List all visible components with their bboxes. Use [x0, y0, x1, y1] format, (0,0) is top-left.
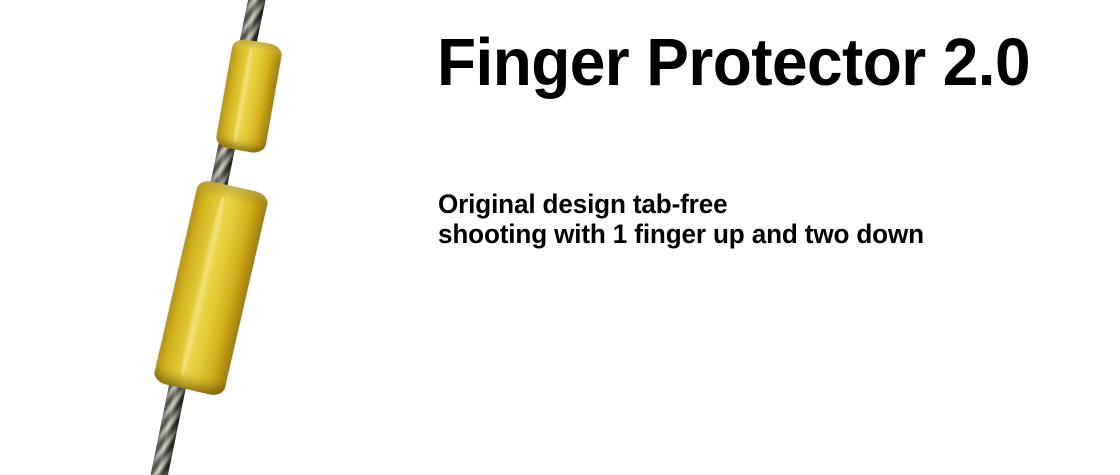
subtitle: Original design tab-free shooting with 1…: [438, 189, 924, 249]
page-title: Finger Protector 2.0: [437, 29, 1030, 96]
product-photo: [0, 0, 420, 475]
slide-canvas: Finger Protector 2.0 Original design tab…: [0, 0, 1120, 475]
finger-protector-bead-lower: [153, 179, 270, 398]
subtitle-line-1: Original design tab-free: [438, 189, 924, 219]
subtitle-line-2: shooting with 1 finger up and two down: [438, 219, 924, 249]
finger-protector-bead-upper: [215, 37, 283, 154]
text-block: Finger Protector 2.0 Original design tab…: [437, 0, 1077, 475]
